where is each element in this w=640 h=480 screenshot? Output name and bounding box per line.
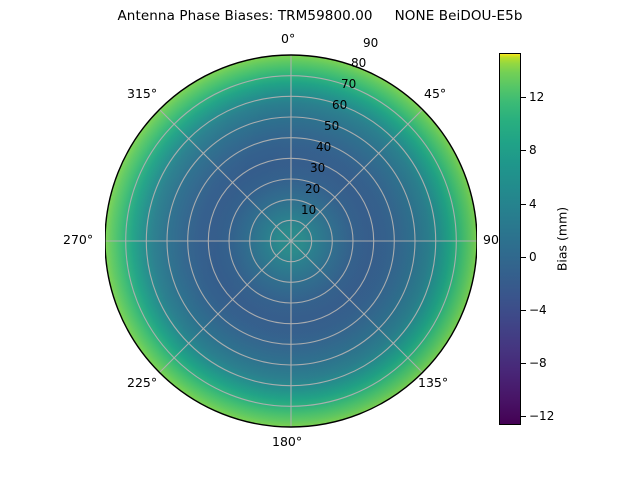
polar-grid-spokes bbox=[105, 55, 477, 427]
colorbar: 12 8 4 0 −4 −8 −12 bbox=[499, 53, 521, 425]
colorbar-label-8: 8 bbox=[529, 143, 537, 157]
polar-axes: 0° 45° 90 135° 180° 225° 270° 315° 10 20… bbox=[105, 45, 477, 433]
colorbar-label-neg12: −12 bbox=[529, 409, 554, 423]
r-label-10: 10 bbox=[301, 203, 316, 217]
colorbar-tick-12 bbox=[521, 97, 526, 98]
r-label-80: 80 bbox=[351, 56, 366, 70]
colorbar-label-neg8: −8 bbox=[529, 356, 547, 370]
r-label-70: 70 bbox=[341, 77, 356, 91]
colorbar-label-4: 4 bbox=[529, 197, 537, 211]
figure-canvas: Antenna Phase Biases: TRM59800.00 NONE B… bbox=[0, 0, 640, 480]
figure-title: Antenna Phase Biases: TRM59800.00 NONE B… bbox=[0, 8, 640, 24]
colorbar-label-0: 0 bbox=[529, 250, 537, 264]
theta-label-225: 225° bbox=[127, 375, 157, 390]
colorbar-tick-0 bbox=[521, 257, 526, 258]
r-label-90: 90 bbox=[363, 36, 378, 50]
colorbar-tick-4 bbox=[521, 204, 526, 205]
theta-label-270: 270° bbox=[63, 232, 93, 247]
r-label-50: 50 bbox=[324, 119, 339, 133]
theta-label-90: 90 bbox=[483, 232, 499, 247]
colorbar-tick-neg12 bbox=[521, 416, 526, 417]
theta-label-315: 315° bbox=[127, 86, 157, 101]
theta-label-45: 45° bbox=[424, 86, 446, 101]
colorbar-tick-neg8 bbox=[521, 363, 526, 364]
theta-label-0: 0° bbox=[281, 31, 295, 46]
colorbar-tick-neg4 bbox=[521, 310, 526, 311]
theta-label-180: 180° bbox=[272, 434, 302, 449]
r-label-20: 20 bbox=[305, 182, 320, 196]
r-label-40: 40 bbox=[316, 140, 331, 154]
theta-label-135: 135° bbox=[418, 375, 448, 390]
colorbar-axis-title: Bias (mm) bbox=[555, 207, 570, 271]
colorbar-gradient bbox=[499, 53, 521, 425]
r-label-60: 60 bbox=[332, 98, 347, 112]
colorbar-label-12: 12 bbox=[529, 90, 544, 104]
colorbar-tick-8 bbox=[521, 150, 526, 151]
colorbar-label-neg4: −4 bbox=[529, 303, 547, 317]
r-label-30: 30 bbox=[310, 161, 325, 175]
